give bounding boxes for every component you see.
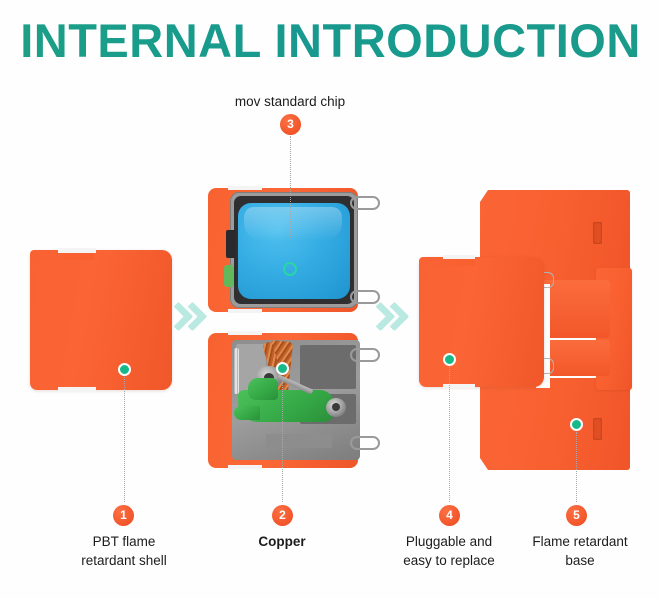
module-notch-bottom xyxy=(443,384,475,388)
arrow-2-chevron-double-right-icon xyxy=(368,302,408,332)
module-notch-top xyxy=(443,255,475,259)
chip-clip-top xyxy=(350,196,380,210)
leader-line-2 xyxy=(282,376,283,502)
copper-clip-bottom xyxy=(350,436,380,450)
shell-ridge-c xyxy=(74,249,76,253)
page-title: INTERNAL INTRODUCTION xyxy=(0,12,661,70)
copper-back-wall xyxy=(300,345,356,389)
badge-1[interactable]: 1 xyxy=(113,505,134,526)
copper-notch-top xyxy=(228,331,262,335)
badge-2[interactable]: 2 xyxy=(272,505,293,526)
shell-notch-bottom xyxy=(58,387,96,392)
top-label-mov-chip: mov standard chip xyxy=(190,93,390,111)
caption-1: PBT flame retardant shell xyxy=(54,532,194,570)
chip-notch-top xyxy=(228,186,262,190)
badge-4[interactable]: 4 xyxy=(439,505,460,526)
base-lower-wing xyxy=(480,378,630,470)
copper-pivot-hole xyxy=(332,403,340,411)
copper-spring xyxy=(234,348,239,394)
leader-line-4 xyxy=(449,367,450,502)
infographic-canvas: INTERNAL INTRODUCTION mov standard chip … xyxy=(0,0,661,598)
marker-dot-1[interactable] xyxy=(118,363,131,376)
marker-ring-3[interactable] xyxy=(283,262,297,276)
base-lower-slot xyxy=(593,418,602,440)
chip-green-pad xyxy=(224,265,234,287)
marker-dot-5[interactable] xyxy=(570,418,583,431)
shell-ridge-d xyxy=(81,249,83,253)
caption-2: Copper xyxy=(212,532,352,551)
chip-side-tab xyxy=(226,230,236,258)
marker-dot-2[interactable] xyxy=(276,362,289,375)
copper-bottom-bracket xyxy=(266,434,332,448)
badge-3[interactable]: 3 xyxy=(280,114,301,135)
chip-notch-bottom xyxy=(228,309,262,313)
module-body xyxy=(419,257,544,387)
chip-gloss-highlight xyxy=(244,207,342,241)
caption-4: Pluggable and easy to replace xyxy=(379,532,519,570)
marker-dot-4[interactable] xyxy=(443,353,456,366)
shell-body xyxy=(30,250,172,390)
base-upper-slot xyxy=(593,222,602,244)
copper-green-arm xyxy=(248,378,278,400)
arrow-1-chevron-double-right-icon xyxy=(166,302,206,332)
leader-line-1 xyxy=(124,377,125,502)
leader-line-5 xyxy=(576,432,577,502)
badge-5[interactable]: 5 xyxy=(566,505,587,526)
copper-notch-bottom xyxy=(228,465,262,469)
copper-clip-top xyxy=(350,348,380,362)
caption-5: Flame retardant base xyxy=(510,532,650,570)
shell-notch-top xyxy=(58,248,96,253)
shell-ridge-b xyxy=(67,249,69,253)
leader-line-3 xyxy=(290,136,291,238)
shell-ridge-a xyxy=(60,249,62,253)
copper-green-tip xyxy=(234,406,260,420)
